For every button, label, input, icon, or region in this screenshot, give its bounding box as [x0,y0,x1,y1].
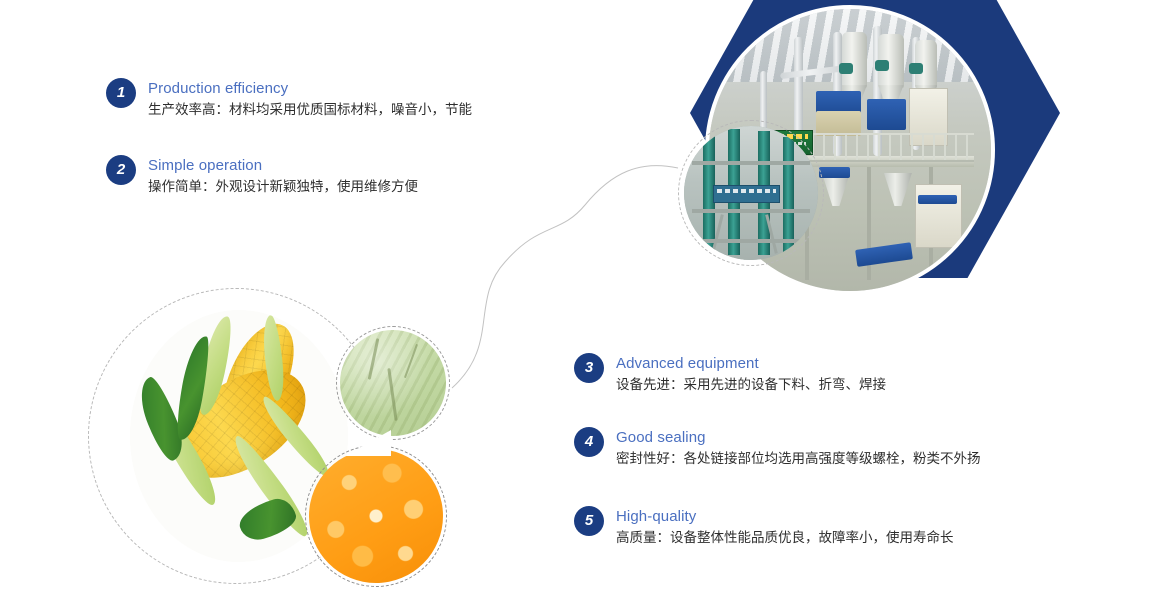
feature-description: 生产效率高：材料均采用优质国标材料，噪音小，节能 [148,99,472,120]
feature-number-badge: 1 [106,78,136,108]
feature-item-3[interactable]: 3 Advanced equipment 设备先进：采用先进的设备下料、折弯、焊… [574,353,886,395]
feature-title: Production efficiency [148,79,472,98]
feature-number-badge: 2 [106,155,136,185]
feature-item-2[interactable]: 2 Simple operation 操作简单：外观设计新颖独特，使用维修方便 [106,155,418,197]
feature-title: Good sealing [616,428,981,447]
feature-number-badge: 4 [574,427,604,457]
feature-description: 操作简单：外观设计新颖独特，使用维修方便 [148,176,418,197]
feature-item-5[interactable]: 5 High-quality 高质量：设备整体性能品质优良，故障率小，使用寿命长 [574,506,954,548]
feature-title: Advanced equipment [616,354,886,373]
feature-description: 密封性好：各处链接部位均选用高强度等级螺栓，粉类不外扬 [616,448,981,469]
feature-description: 高质量：设备整体性能品质优良，故障率小，使用寿命长 [616,527,954,548]
feature-title: Simple operation [148,156,418,175]
feature-number-badge: 3 [574,353,604,383]
feature-number-badge: 5 [574,506,604,536]
feature-infographic: 1 Production efficiency 生产效率高：材料均采用优质国标材… [0,0,1154,591]
feature-description: 设备先进：采用先进的设备下料、折弯、焊接 [616,374,886,395]
corn-paste-photo-circle [336,326,450,440]
feature-item-1[interactable]: 1 Production efficiency 生产效率高：材料均采用优质国标材… [106,78,472,120]
corn-grits-photo-circle [305,445,447,587]
feature-item-4[interactable]: 4 Good sealing 密封性好：各处链接部位均选用高强度等级螺栓，粉类不… [574,427,981,469]
feature-title: High-quality [616,507,954,526]
teal-mill-photo-circle [678,120,824,266]
